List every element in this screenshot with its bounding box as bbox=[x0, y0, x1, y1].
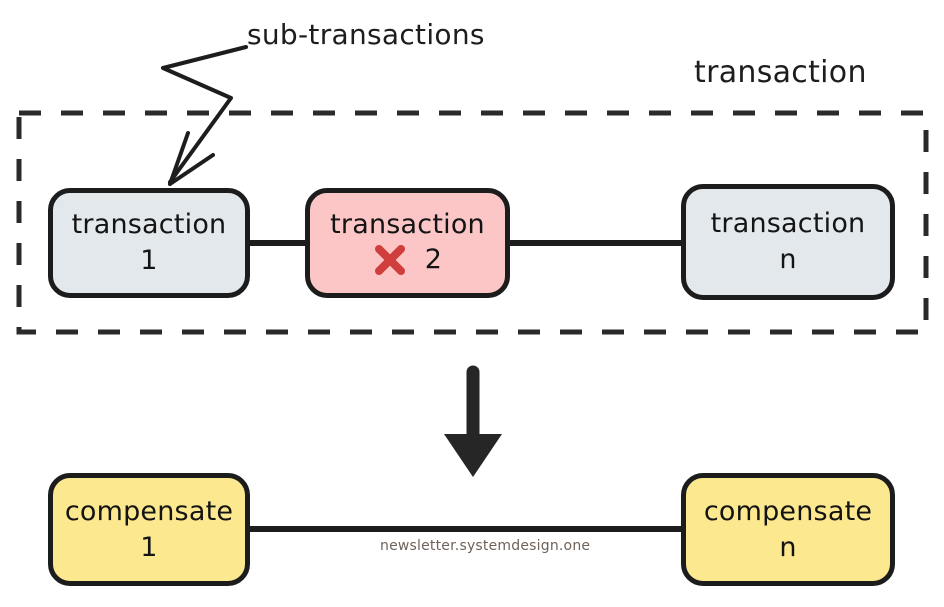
sub-transactions-annotation: sub-transactions bbox=[247, 18, 485, 51]
node-transaction-1-label: transaction bbox=[72, 209, 227, 241]
transaction-group-title: transaction bbox=[694, 55, 867, 90]
node-transaction-n-index: n bbox=[779, 244, 796, 276]
node-compensate-n[interactable]: compensate n bbox=[681, 473, 895, 586]
node-transaction-1-index: 1 bbox=[140, 245, 157, 277]
node-transaction-2[interactable]: transaction 2 bbox=[305, 188, 510, 298]
watermark-text: newsletter.systemdesign.one bbox=[380, 538, 590, 554]
x-mark-icon bbox=[373, 243, 407, 277]
down-arrow-icon bbox=[444, 372, 502, 477]
node-compensate-n-index: n bbox=[779, 532, 796, 564]
node-transaction-n-label: transaction bbox=[711, 208, 866, 240]
diagram-canvas: transaction sub-transactions transaction… bbox=[0, 0, 944, 607]
node-transaction-1[interactable]: transaction 1 bbox=[48, 188, 250, 298]
node-compensate-n-label: compensate bbox=[704, 496, 872, 528]
node-compensate-1[interactable]: compensate 1 bbox=[48, 473, 250, 586]
node-transaction-2-index: 2 bbox=[425, 244, 442, 276]
node-transaction-2-label: transaction bbox=[330, 209, 485, 241]
node-compensate-1-label: compensate bbox=[65, 496, 233, 528]
node-compensate-1-index: 1 bbox=[140, 532, 157, 564]
node-transaction-2-status-row: 2 bbox=[373, 243, 442, 277]
node-transaction-n[interactable]: transaction n bbox=[681, 184, 895, 300]
